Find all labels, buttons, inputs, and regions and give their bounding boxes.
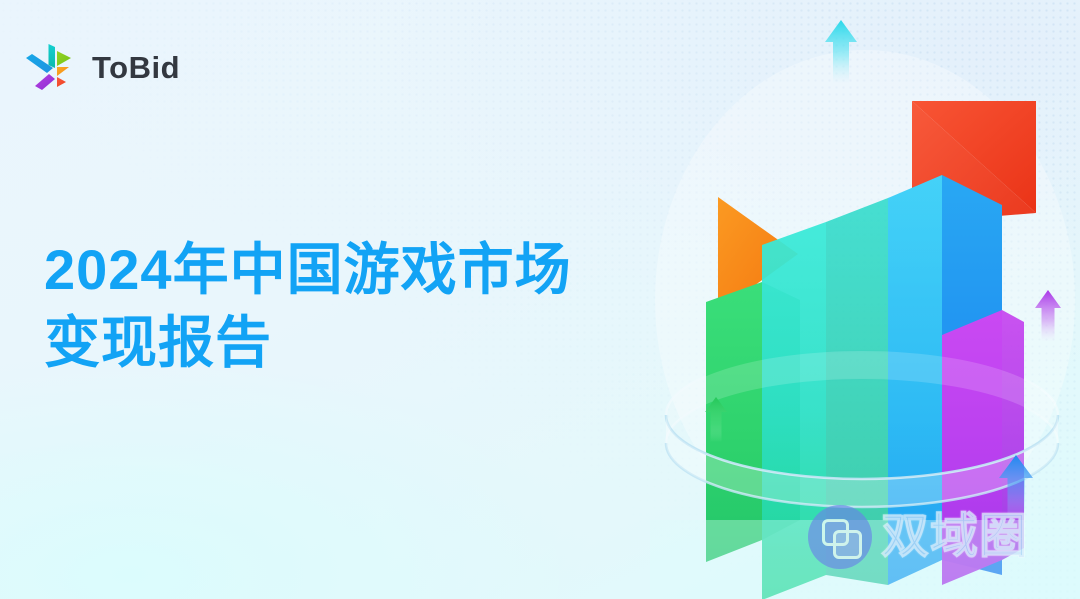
page-title-line-1: 2024年中国游戏市场	[44, 234, 644, 307]
brand-logo[interactable]: ToBid	[22, 38, 180, 96]
page-title: 2024年中国游戏市场 变现报告	[44, 234, 644, 380]
brand-wordmark: ToBid	[92, 52, 180, 83]
report-cover-slide: ToBid 2024年中国游戏市场 变现报告	[0, 0, 1080, 599]
tobid-petal-logo-icon	[22, 38, 80, 96]
page-title-line-2: 变现报告	[44, 307, 644, 380]
hero-illustration	[650, 0, 1080, 599]
